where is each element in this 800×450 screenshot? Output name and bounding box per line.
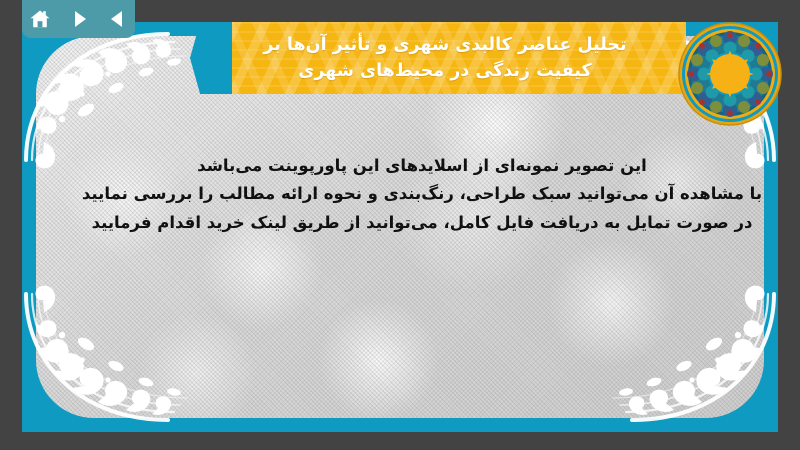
page-title: تحلیل عناصر کالبدی شهری و تأثیر آن‌ها بر…: [248, 32, 642, 85]
forward-button[interactable]: [66, 6, 92, 32]
slide-stage: این تصویر نمونه‌ای از اسلایدهای این پاور…: [0, 0, 800, 450]
slide-body-text: این تصویر نمونه‌ای از اسلایدهای این پاور…: [62, 152, 778, 237]
body-line-3: در صورت تمایل به دریافت فایل کامل، می‌تو…: [62, 209, 778, 237]
title-banner: تحلیل عناصر کالبدی شهری و تأثیر آن‌ها بر…: [232, 22, 686, 94]
home-button[interactable]: [27, 6, 53, 32]
body-line-1: این تصویر نمونه‌ای از اسلایدهای این پاور…: [62, 152, 778, 180]
body-line-2: با مشاهده آن می‌توانید سبک طراحی، رنگ‌بن…: [62, 180, 778, 208]
back-button[interactable]: [105, 6, 131, 32]
navigation-bar: [22, 0, 135, 38]
islamic-medallion-icon: [678, 22, 782, 126]
